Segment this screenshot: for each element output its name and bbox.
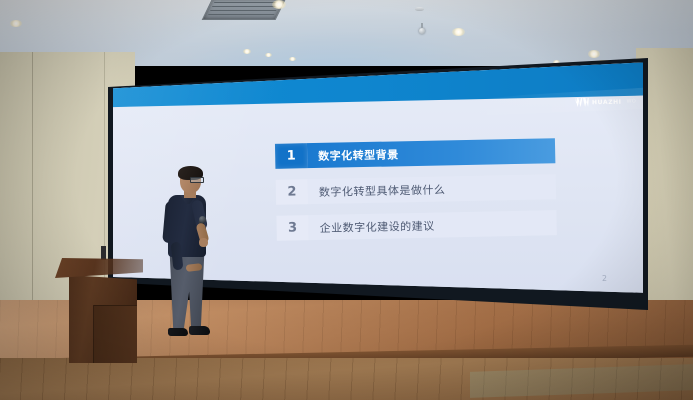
downlight-icon	[588, 50, 600, 58]
presenter-shoe	[168, 328, 188, 336]
downlight-icon	[243, 49, 251, 54]
microphone-head-icon	[199, 216, 206, 223]
logo-text: HUAZHI	[592, 98, 622, 106]
toc-row-number: 1	[275, 143, 307, 169]
toc-row-label: 数字化转型具体是做什么	[308, 174, 556, 204]
conference-room-photo: 目录 HUAZHI WO 1数字化转型背景2数字化转型具体是做什么3企业数字化建…	[0, 0, 693, 400]
downlight-icon	[289, 57, 296, 61]
toc-row[interactable]: 3企业数字化建设的建议	[276, 210, 556, 241]
downlight-icon	[452, 28, 465, 36]
logo-subtext: WO	[626, 98, 636, 104]
slide-page-number: 2	[602, 274, 607, 283]
toc-row-label: 企业数字化建设的建议	[308, 210, 556, 240]
toc-row[interactable]: 1数字化转型背景	[275, 138, 555, 169]
presenter	[160, 168, 222, 358]
podium-top	[55, 258, 143, 278]
podium-body	[69, 275, 137, 363]
downlight-icon	[265, 53, 272, 57]
podium-microphone-post	[101, 246, 106, 260]
downlight-icon	[272, 0, 286, 9]
presenter-hand-mic	[199, 238, 208, 247]
downlight-icon	[10, 20, 22, 27]
toc-row-label: 数字化转型背景	[307, 138, 555, 168]
brand-logo: HUAZHI WO	[575, 96, 636, 107]
toc-row-number: 3	[276, 215, 308, 241]
smoke-detector-icon	[415, 7, 424, 11]
huazhi-logo-mark-icon	[575, 97, 589, 107]
ceiling-light-wash	[120, 0, 590, 66]
sprinkler-head-icon	[419, 28, 425, 34]
glasses-icon	[190, 177, 204, 183]
table-of-contents: 1数字化转型背景2数字化转型具体是做什么3企业数字化建设的建议	[275, 138, 557, 252]
wall-seam	[32, 52, 33, 342]
toc-row[interactable]: 2数字化转型具体是做什么	[276, 174, 556, 205]
podium	[55, 258, 143, 363]
toc-row-number: 2	[276, 179, 308, 205]
presenter-shoe	[189, 326, 210, 335]
